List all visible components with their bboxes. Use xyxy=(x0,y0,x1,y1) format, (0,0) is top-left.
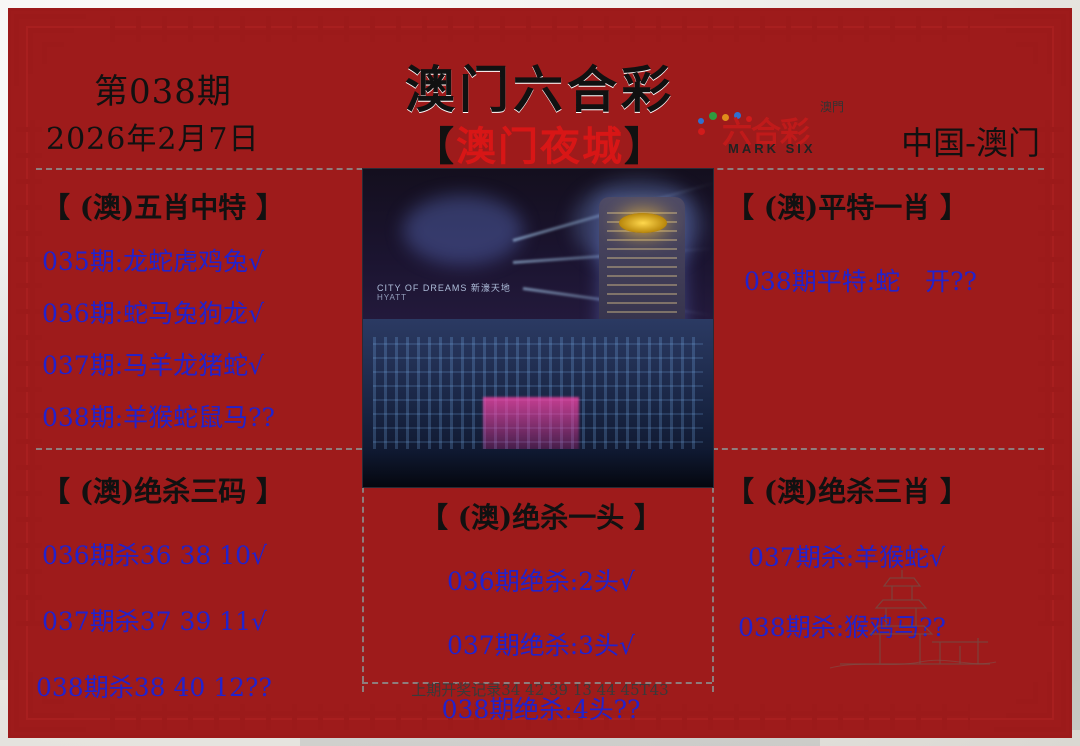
poster-content: 第038期 2026年2月7日 澳门六合彩 【澳门夜城】 六合彩 MARK SI… xyxy=(36,36,1044,710)
panel-five-zodiac: 【 (澳)五肖中特 】 035期:龙蛇虎鸡兔√ 036期:蛇马兔狗龙√ 037期… xyxy=(42,186,354,434)
panel-title: 【 (澳)绝杀三码 】 xyxy=(42,470,362,510)
panel-line: 036期:蛇马兔狗龙√ xyxy=(42,294,354,330)
page-subtitle: 【澳门夜城】 xyxy=(414,114,666,172)
frame-meander-top-bar xyxy=(110,30,970,35)
frame-meander-left-bar xyxy=(30,120,35,626)
subtitle-highlight: 澳门夜城 xyxy=(456,123,624,170)
poster-canvas: 第038期 2026年2月7日 澳门六合彩 【澳门夜城】 六合彩 MARK SI… xyxy=(0,0,1080,746)
subtitle-bracket-right: 】 xyxy=(624,123,666,170)
pagoda-sketch-icon xyxy=(820,564,1000,674)
logo-english-text: MARK SIX xyxy=(728,141,816,156)
frame-meander-right-bar xyxy=(1045,120,1050,626)
separator-horizontal-right-mid xyxy=(712,448,1044,450)
separator-horizontal-left-mid xyxy=(36,448,362,450)
photo-tower-crown xyxy=(619,213,667,233)
panel-line: 036期绝杀:2头√ xyxy=(376,562,706,598)
panel-title: 【 (澳)绝杀三肖 】 xyxy=(726,470,1044,510)
panel-single-zodiac: 【 (澳)平特一肖 】 038期平特:蛇 开?? xyxy=(726,186,1044,298)
panel-title: 【 (澳)平特一肖 】 xyxy=(726,186,1044,226)
panel-kill-three-codes: 【 (澳)绝杀三码 】 036期杀36 38 10√ 037期杀37 39 11… xyxy=(42,470,362,704)
panel-line: 038期平特:蛇 开?? xyxy=(744,262,1044,298)
panel-line: 036期杀36 38 10√ xyxy=(42,536,362,572)
panel-line: 038期:羊猴蛇鼠马?? xyxy=(42,398,354,434)
mark-six-logo: 六合彩 MARK SIX 澳門 xyxy=(698,108,848,164)
panel-line: 037期:马羊龙猪蛇√ xyxy=(42,346,354,382)
poster-header: 第038期 2026年2月7日 澳门六合彩 【澳门夜城】 六合彩 MARK SI… xyxy=(36,36,1044,168)
panel-line: 037期杀37 39 11√ xyxy=(42,602,362,638)
photo-ground xyxy=(363,449,713,487)
page-title: 澳门六合彩 xyxy=(405,50,675,122)
photo-caption-secondary: HYATT xyxy=(377,293,407,302)
panel-title: 【 (澳)绝杀一头 】 xyxy=(376,496,706,536)
panel-line: 037期绝杀:3头√ xyxy=(376,626,706,662)
logo-badge-text: 澳門 xyxy=(820,98,844,115)
draw-date: 2026年2月7日 xyxy=(46,114,260,158)
panel-title: 【 (澳)五肖中特 】 xyxy=(42,186,354,226)
previous-draw-note: 上期开奖记录34 42 39 13 44 45T43 xyxy=(411,679,668,700)
panel-line: 035期:龙蛇虎鸡兔√ xyxy=(42,242,354,278)
casino-night-photo: CITY OF DREAMS 新濠天地 HYATT xyxy=(362,168,714,488)
panel-line: 038期杀38 40 12?? xyxy=(36,668,362,704)
issue-number: 第038期 xyxy=(94,64,232,113)
photo-glow-left xyxy=(403,195,523,265)
subtitle-bracket-left: 【 xyxy=(414,123,456,170)
region-label: 中国-澳门 xyxy=(901,118,1040,164)
